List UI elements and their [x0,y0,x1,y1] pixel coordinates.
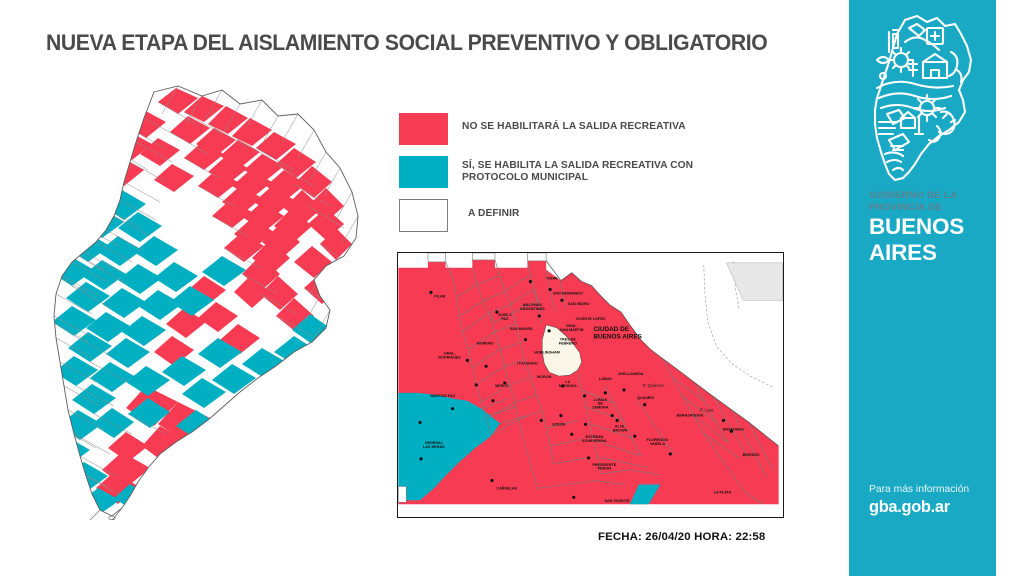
svg-text:DE: DE [598,402,604,406]
svg-text:ESTEBAN: ESTEBAN [586,435,604,439]
legend-label-cyan-line1: SÍ, SE HABILITA LA SALIDA RECREATIVA CON [462,160,693,172]
legend-item-a-definir: A DEFINIR [399,199,729,232]
svg-text:ENSENADA: ENSENADA [723,427,744,431]
brand-line-3: BUENOS [869,216,993,239]
svg-text:TRES DE: TRES DE [560,338,577,342]
svg-text:AVELLANEDA: AVELLANEDA [618,372,644,376]
svg-text:TIGRE: TIGRE [546,277,558,281]
caba-label-line2: BUENOS AIRES [593,334,642,341]
svg-text:LOMAS: LOMAS [594,398,608,402]
svg-text:VARELA: VARELA [650,442,665,446]
svg-text:QUILMES: QUILMES [637,396,655,400]
svg-text:LANUS: LANUS [599,377,612,381]
province-choropleth-map[interactable] [26,80,391,520]
svg-text:ZAMORA: ZAMORA [592,406,609,410]
legend-label-red: NO SE HABILITARÁ LA SALIDA RECREATIVA [462,113,686,133]
buenos-aires-province-outline-icon [865,14,981,186]
footer-more-info-label: Para más información [869,483,993,497]
svg-text:GRAL.: GRAL. [444,351,456,355]
svg-text:ECHEVERRIA: ECHEVERRIA [582,439,607,443]
brand-line-4: AIRES [869,242,993,265]
svg-text:SAN ISIDRO: SAN ISIDRO [568,302,590,306]
legend-item-si-salida: SÍ, SE HABILITA LA SALIDA RECREATIVA CON… [399,156,729,188]
caba-label-line1: CIUDAD DE [593,326,629,333]
svg-text:LA: LA [565,380,570,384]
svg-text:GRAL.: GRAL. [566,324,578,328]
svg-text:EZEIZA: EZEIZA [552,422,566,426]
svg-text:SAN MIGUEL: SAN MIGUEL [510,327,534,331]
legend-swatch-cyan [399,156,448,188]
brand-footer: Para más información gba.gob.ar [869,483,993,517]
svg-text:MORENO: MORENO [477,342,494,346]
svg-text:SAN VICENTE: SAN VICENTE [605,499,631,503]
legend-label-cyan: SÍ, SE HABILITA LA SALIDA RECREATIVA CON… [462,156,693,185]
brand-line-2: PROVINCIA DE [869,202,993,214]
svg-text:RODRIGUEZ: RODRIGUEZ [438,355,461,359]
svg-text:MALVINAS: MALVINAS [523,303,543,307]
svg-text:MATANZA: MATANZA [559,384,577,388]
svg-text:CAÑUELAS: CAÑUELAS [496,485,517,490]
svg-text:PAZ: PAZ [501,317,509,321]
legend: NO SE HABILITARÁ LA SALIDA RECREATIVA SÍ… [399,113,729,232]
svg-text:MERLO: MERLO [495,384,509,388]
svg-text:PERON: PERON [598,467,612,471]
svg-text:MORON: MORON [537,375,552,379]
svg-text:LA PLATA: LA PLATA [714,490,732,494]
svg-text:BERAZATEGUI: BERAZATEGUI [677,414,704,418]
svg-text:HURLINGHAM: HURLINGHAM [534,350,560,354]
legend-swatch-red [399,113,448,145]
svg-text:MARCOS PAZ: MARCOS PAZ [430,394,456,398]
svg-text:GENERAL: GENERAL [425,441,444,445]
amba-inset-map[interactable]: TIGRE SAN FERNANDO SAN ISIDRO VICENTE LO… [397,252,784,518]
svg-text:SAN FERNANDO: SAN FERNANDO [553,291,583,295]
poster-root: NUEVA ETAPA DEL AISLAMIENTO SOCIAL PREVE… [0,0,1024,576]
svg-text:ITUZAINGO: ITUZAINGO [517,361,538,365]
page-title: NUEVA ETAPA DEL AISLAMIENTO SOCIAL PREVE… [46,30,779,56]
svg-text:SAN MARTIN: SAN MARTIN [560,328,584,332]
date-time-stamp: FECHA: 26/04/20 HORA: 22:58 [598,531,765,543]
legend-item-no-salida: NO SE HABILITARÁ LA SALIDA RECREATIVA [399,113,729,145]
svg-text:BERISSO: BERISSO [743,453,760,457]
svg-text:VICENTE LOPEZ: VICENTE LOPEZ [576,317,606,321]
footer-website-url[interactable]: gba.gob.ar [869,497,993,517]
svg-text:FLORENCIO: FLORENCIO [646,438,668,442]
brand-line-1: GOBIERNO DE LA [869,190,993,202]
brand-wordmark: GOBIERNO DE LA PROVINCIA DE BUENOS AIRES [869,190,993,264]
legend-label-cyan-line2: PROTOCOLO MUNICIPAL [462,172,693,184]
label-p-lara: P. Lara [700,408,714,413]
svg-text:LAS HERAS: LAS HERAS [423,445,445,449]
svg-text:ARGENTINAS: ARGENTINAS [520,307,545,311]
legend-swatch-white [399,199,448,232]
svg-text:FEBRERO: FEBRERO [559,342,577,346]
amba-corner-cutout [398,486,406,502]
svg-text:PILAR: PILAR [434,294,446,298]
svg-text:JOSE C: JOSE C [498,313,512,317]
svg-text:BROWN: BROWN [613,428,628,432]
label-p-quilmes: P. Quilmes [643,383,665,388]
legend-label-white: A DEFINIR [462,199,519,220]
svg-text:PRESIDENTE: PRESIDENTE [592,463,616,467]
brand-panel: GOBIERNO DE LA PROVINCIA DE BUENOS AIRES… [849,0,996,576]
svg-text:ALTE.: ALTE. [615,424,626,428]
